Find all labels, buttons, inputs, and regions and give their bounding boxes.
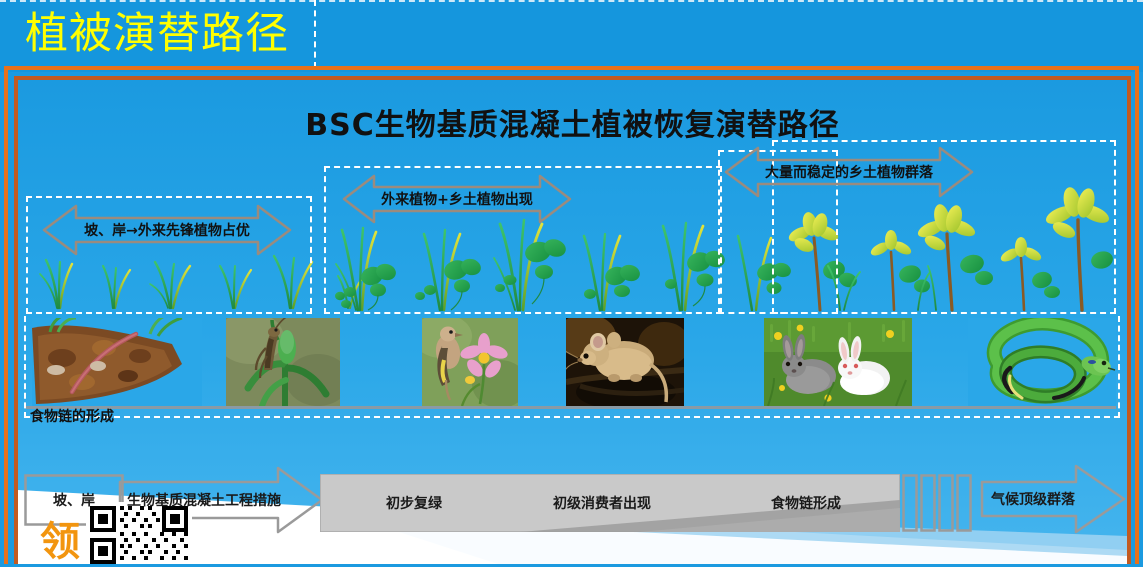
process-step-4[interactable]: 初级消费者出现 xyxy=(504,474,700,532)
watermark: 领 xyxy=(26,502,206,564)
bird-flower-photo[interactable] xyxy=(422,318,518,406)
process-step-3[interactable]: 初步复绿 xyxy=(334,474,494,532)
stage-arrow-3-label: 大量而稳定的乡土植物群落 xyxy=(765,162,933,182)
grasshopper-image xyxy=(226,318,340,406)
vegetation-band: 坡、岸→外来先锋植物占优 外来植物+乡土植物出现 大量而稳定的乡土植物群落 xyxy=(18,80,1127,320)
stage-arrow-3[interactable]: 大量而稳定的乡土植物群落 xyxy=(724,144,974,200)
process-step-6-label: 气候顶级群落 xyxy=(991,489,1075,509)
mouse-image xyxy=(566,318,684,406)
rabbits-photo[interactable] xyxy=(764,318,912,406)
snake-photo[interactable] xyxy=(968,318,1116,406)
snake-image xyxy=(968,318,1116,406)
process-step-4-label: 初级消费者出现 xyxy=(553,493,651,513)
header-title-box[interactable]: 植被演替路径 xyxy=(0,0,316,68)
header-band: 植被演替路径 xyxy=(0,0,1143,72)
stage-arrow-1[interactable]: 坡、岸→外来先锋植物占优 xyxy=(42,202,292,258)
content-canvas: BSC生物基质混凝土植被恢复演替路径 xyxy=(18,80,1127,564)
foodchain-photo-strip xyxy=(18,318,1127,410)
process-divider-bars xyxy=(902,474,982,532)
process-step-1-label: 坡、岸 xyxy=(53,490,95,510)
page-title: 植被演替路径 xyxy=(25,13,289,56)
process-step-6[interactable]: 气候顶级群落 xyxy=(980,464,1126,534)
earthworm-soil-photo[interactable] xyxy=(32,318,202,406)
grasshopper-photo[interactable] xyxy=(226,318,340,406)
stage-arrow-2[interactable]: 外来植物+乡土植物出现 xyxy=(342,172,572,226)
qr-code-icon[interactable] xyxy=(86,502,192,564)
stage-arrow-2-label: 外来植物+乡土植物出现 xyxy=(381,189,533,209)
photo-strip-rule xyxy=(26,406,1116,409)
process-step-5-label: 食物链形成 xyxy=(771,493,841,513)
watermark-character: 领 xyxy=(40,522,80,562)
process-step-5[interactable]: 食物链形成 xyxy=(718,474,894,532)
foodchain-label: 食物链的形成 xyxy=(30,406,114,426)
bird-flower-image xyxy=(422,318,518,406)
earthworm-soil-image xyxy=(32,318,202,406)
mouse-photo[interactable] xyxy=(566,318,684,406)
rabbits-image xyxy=(764,318,912,406)
process-step-3-label: 初步复绿 xyxy=(386,493,442,513)
process-step-2-label: 生物基质混凝土工程措施 xyxy=(127,490,281,510)
stage-arrow-1-label: 坡、岸→外来先锋植物占优 xyxy=(84,220,250,240)
slide-canvas: 植被演替路径 BSC生物基质混凝土植被恢复演替路径 xyxy=(0,0,1143,567)
